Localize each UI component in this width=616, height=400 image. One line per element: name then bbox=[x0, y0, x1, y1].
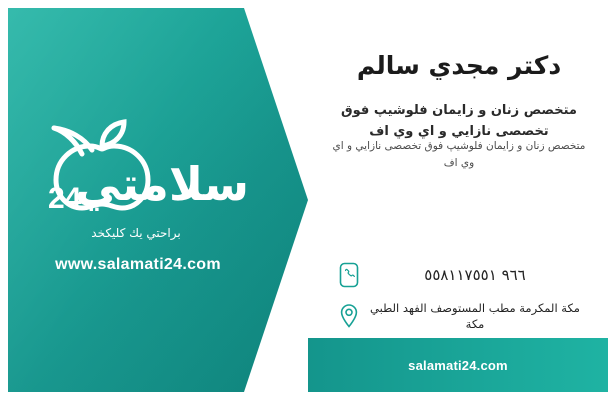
doctor-specialty-ar: متخصص زنان و زايمان فلوشيپ فوق تخصصى ناز… bbox=[328, 138, 590, 172]
doctor-name: دكتر مجدي سالم bbox=[328, 50, 590, 82]
location-pin-icon bbox=[336, 301, 362, 331]
doctor-specialty-fa: متخصص زنان و زايمان فلوشيپ فوق تخصصى ناز… bbox=[328, 100, 590, 142]
card-info-panel: دكتر مجدي سالم متخصص زنان و زايمان فلوشي… bbox=[308, 8, 608, 338]
phone-icon bbox=[336, 260, 362, 290]
card-frame: سلامتي 24 براحتي يك كليكخد www.salamati2… bbox=[8, 8, 608, 392]
phone-row: ٩٦٦ ٥٥٨١١٧٥٥١ bbox=[326, 260, 588, 290]
brand-logo: سلامتي 24 براحتي يك كليكخد www.salamati2… bbox=[22, 116, 252, 246]
logo-tagline: براحتي يك كليكخد bbox=[22, 226, 250, 240]
logo-url: www.salamati24.com bbox=[22, 256, 254, 274]
footer-bar: salamati24.com bbox=[308, 338, 608, 392]
address-text: مكة المكرمة مطب المستوصف الفهد الطبي مكة bbox=[362, 300, 588, 332]
logo-badge-number: 24 bbox=[48, 182, 81, 216]
address-row: مكة المكرمة مطب المستوصف الفهد الطبي مكة bbox=[326, 300, 588, 332]
footer-site-label: salamati24.com bbox=[408, 358, 508, 373]
business-card: سلامتي 24 براحتي يك كليكخد www.salamati2… bbox=[0, 0, 616, 400]
phone-number: ٩٦٦ ٥٥٨١١٧٥٥١ bbox=[362, 266, 588, 284]
teal-panel: سلامتي 24 براحتي يك كليكخد www.salamati2… bbox=[8, 8, 308, 392]
